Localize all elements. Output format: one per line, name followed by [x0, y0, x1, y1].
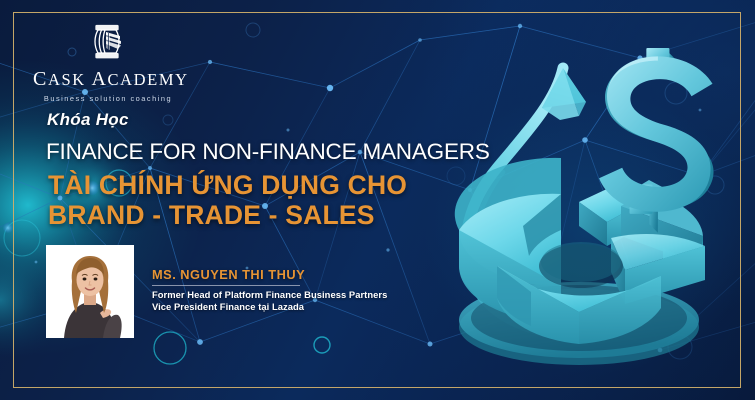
course-title-english: FINANCE FOR NON-FINANCE MANAGERS	[46, 139, 490, 165]
speaker-role-line1: Former Head of Platform Finance Business…	[152, 289, 387, 300]
logo-tagline: Business solution coaching	[33, 94, 183, 103]
cask-barrel-book-icon	[87, 22, 129, 62]
speaker-name: MS. NGUYEN THI THUY	[152, 267, 305, 282]
brand-logo[interactable]: CASK ACADEMY Business solution coaching	[33, 22, 183, 103]
speaker-divider	[152, 285, 300, 286]
logo-wordmark: CASK ACADEMY	[33, 68, 183, 91]
finance-3d-artwork	[411, 30, 751, 380]
course-title-vietnamese-line1: TÀI CHÍNH ỨNG DỤNG CHO	[48, 170, 407, 201]
speaker-role-line2: Vice President Finance tại Lazada	[152, 301, 304, 312]
course-banner: CASK ACADEMY Business solution coaching …	[0, 0, 755, 400]
course-title-vietnamese-line2: BRAND - TRADE - SALES	[48, 200, 375, 231]
speaker-photo	[46, 245, 134, 338]
eyebrow-label: Khóa Học	[47, 110, 129, 130]
